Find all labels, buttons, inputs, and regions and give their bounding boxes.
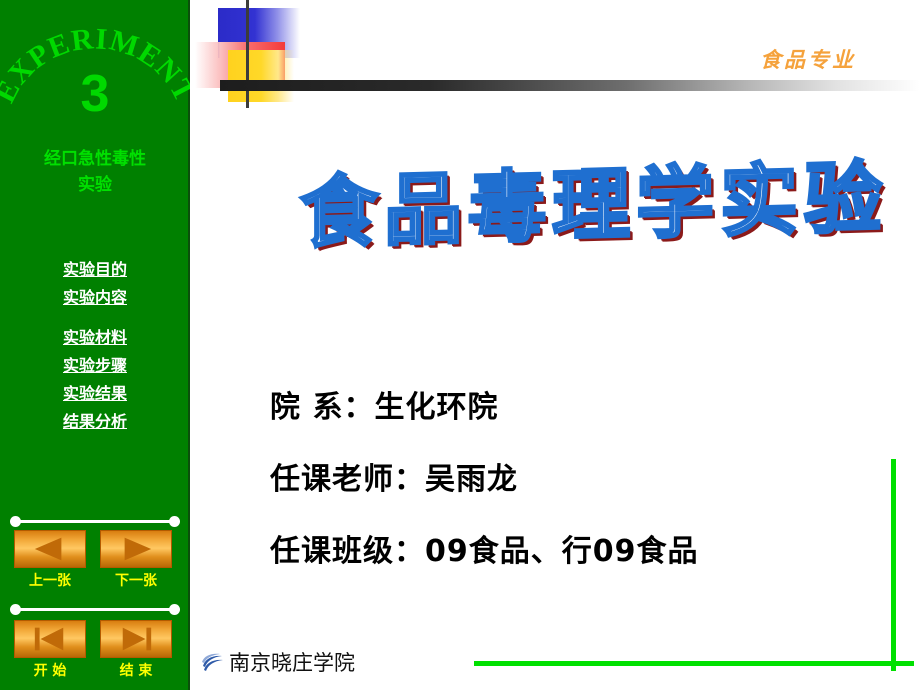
separator-dot-right	[169, 604, 180, 615]
sidebar-item-steps[interactable]: 实验步骤	[0, 352, 190, 380]
info-label-teacher: 任课老师：	[270, 462, 425, 497]
separator-bottom	[10, 604, 180, 616]
next-slide-button[interactable]	[100, 530, 172, 568]
info-value-class: 09食品、行09食品	[425, 534, 699, 569]
sidebar-item-content[interactable]: 实验内容	[0, 284, 190, 312]
experiment-subtitle-line2: 实验	[0, 172, 190, 198]
footer-institution: 南京晓庄学院	[200, 650, 355, 676]
sidebar-item-materials[interactable]: 实验材料	[0, 324, 190, 352]
next-slide-label: 下一张	[100, 570, 172, 590]
sidebar-item-results[interactable]: 实验结果	[0, 380, 190, 408]
info-label-class: 任课班级：	[270, 534, 425, 569]
sidebar-item-analysis[interactable]: 结果分析	[0, 408, 190, 436]
last-slide-button[interactable]	[100, 620, 172, 658]
experiment-number: 3	[0, 66, 190, 122]
previous-slide-label: 上一张	[14, 570, 86, 590]
decor-horizontal-bar	[220, 80, 920, 91]
institution-name: 南京晓庄学院	[229, 650, 355, 676]
major-label: 食品专业	[760, 44, 856, 74]
university-logo-icon	[200, 650, 226, 676]
separator-dot-right	[169, 516, 180, 527]
decor-vertical-line	[246, 0, 249, 108]
sidebar-nav: 实验目的 实验内容 实验材料 实验步骤 实验结果 结果分析	[0, 256, 190, 436]
info-line-class: 任课班级：09食品、行09食品	[270, 516, 890, 588]
separator-dot-left	[10, 604, 21, 615]
nav-button-row-prev-next: 上一张 下一张	[0, 530, 190, 592]
page-title: 食品毒理学实验	[300, 138, 900, 274]
accent-rule-horizontal	[474, 661, 914, 666]
previous-slide-button[interactable]	[14, 530, 86, 568]
separator-bar	[16, 608, 174, 611]
decor-square-yellow	[228, 50, 294, 102]
separator-dot-left	[10, 516, 21, 527]
experiment-subtitle-line1: 经口急性毒性	[0, 146, 190, 172]
info-line-department: 院 系：生化环院	[270, 372, 890, 444]
nav-button-row-first-last: 开 始 结 束	[0, 620, 190, 682]
presentation-slide: EXPERIMENT 3 经口急性毒性 实验 实验目的 实验内容 实验材料 实验…	[0, 0, 920, 690]
info-line-teacher: 任课老师：吴雨龙	[270, 444, 890, 516]
sidebar: EXPERIMENT 3 经口急性毒性 实验 实验目的 实验内容 实验材料 实验…	[0, 0, 190, 690]
last-slide-label: 结 束	[100, 660, 172, 680]
sidebar-item-purpose[interactable]: 实验目的	[0, 256, 190, 284]
slide-body: 院 系：生化环院 任课老师：吴雨龙 任课班级：09食品、行09食品	[270, 372, 890, 588]
info-value-department: 生化环院	[374, 390, 498, 425]
info-value-teacher: 吴雨龙	[425, 462, 518, 497]
accent-rule-vertical	[891, 459, 896, 671]
first-slide-label: 开 始	[14, 660, 86, 680]
first-slide-button[interactable]	[14, 620, 86, 658]
separator-top	[10, 516, 180, 528]
info-label-department: 院 系：	[270, 390, 374, 425]
separator-bar	[16, 520, 174, 523]
experiment-subtitle: 经口急性毒性 实验	[0, 146, 190, 198]
